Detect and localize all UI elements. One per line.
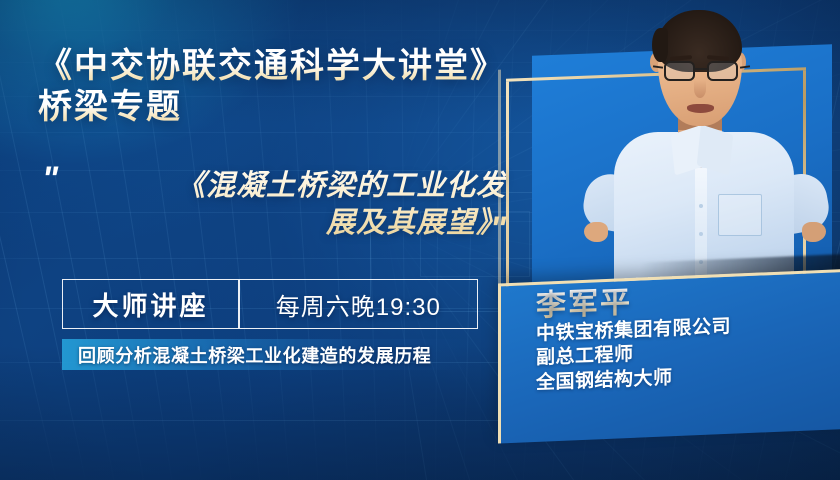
master-lecture-box: 大师讲座 每周六晚19:30 [62,279,478,329]
subtitle-text: 回顾分析混凝土桥梁工业化建造的发展历程 [62,342,431,368]
quote-text: 《混凝土桥梁的工业化发 展及其展望》 [86,168,506,242]
portrait-button [699,232,703,236]
portrait-shirt-pocket [718,194,762,236]
subtitle-bar: 回顾分析混凝土桥梁工业化建造的发展历程 [62,339,474,370]
quote-open-mark: " [42,160,55,199]
lecture-poster: 《中交协联交通科学大讲堂》 桥梁专题 " 《混凝土桥梁的工业化发 展及其展望》 … [0,0,840,480]
lecture-schedule: 每周六晚19:30 [240,287,477,322]
lecture-topic-quote: " 《混凝土桥梁的工业化发 展及其展望》 " [38,168,538,263]
quote-close-mark: " [490,210,503,249]
speaker-portrait [580,8,830,298]
portrait-button [699,204,703,208]
portrait-hand-right [802,222,826,242]
quote-text-line-2: 展及其展望》 [86,205,506,242]
portrait-hand-left [584,222,608,242]
headline-line-2: 桥梁专题 [38,87,558,128]
quote-text-line-1: 《混凝土桥梁的工业化发 [86,168,506,205]
portrait-nose [694,80,706,98]
speaker-info-text: 李军平 中铁宝桥集团有限公司 副总工程师 全国钢结构大师 [536,278,836,395]
master-lecture-label: 大师讲座 [63,286,238,323]
page-title: 《中交协联交通科学大讲堂》 桥梁专题 [38,46,558,128]
portrait-mouth [687,104,714,113]
headline-line-1: 《中交协联交通科学大讲堂》 [38,46,558,87]
